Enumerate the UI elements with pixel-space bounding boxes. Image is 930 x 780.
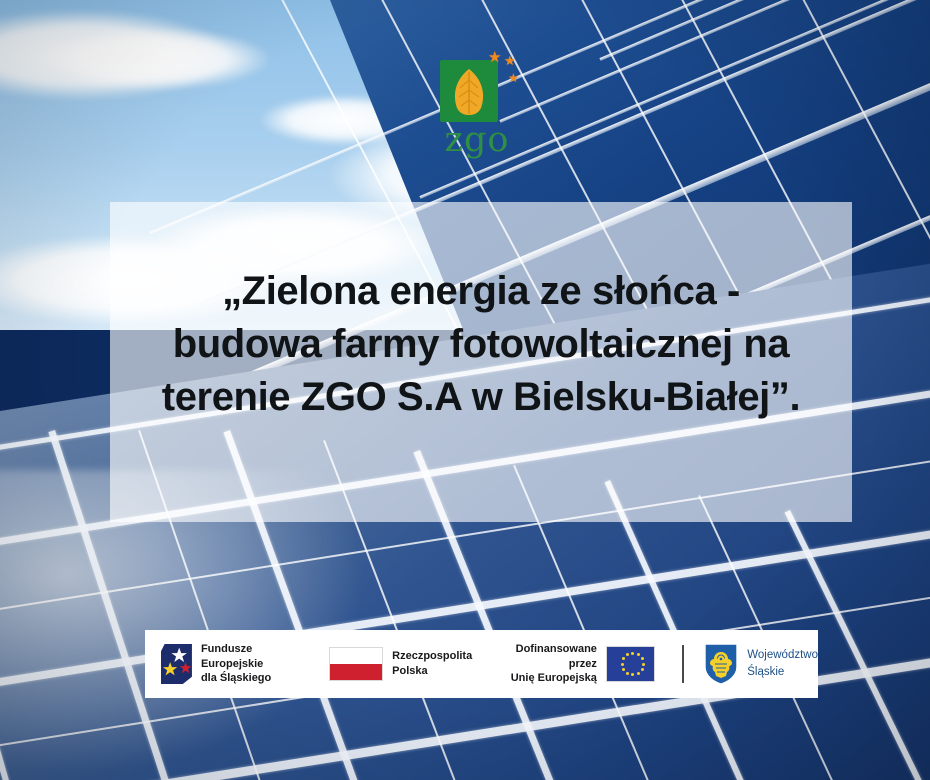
- polish-flag-icon: [329, 647, 383, 681]
- eu-flag-star-icon: [637, 672, 640, 675]
- logo-label-dofinansowane-przez-ue: Dofinansowane przez Unię Europejską: [494, 642, 597, 687]
- logo-item-wojewodztwo-slaskie: Województwo Śląskie: [704, 630, 818, 698]
- logo-bar-divider: [682, 645, 684, 683]
- zgo-star-icon: ★: [508, 72, 519, 84]
- zgo-logo: ★ ★ ★ zgo: [432, 48, 522, 158]
- eu-flag-star-icon: [637, 653, 640, 656]
- eu-flag-star-icon: [631, 673, 634, 676]
- european-union-flag-icon: [606, 646, 655, 682]
- title-line: „Zielona energia ze słońca -: [120, 265, 842, 318]
- poster-root: ★ ★ ★ zgo „Zielona energia ze słońca - b…: [0, 0, 930, 780]
- zgo-star-icon: ★: [488, 50, 501, 65]
- eu-flag-star-icon: [622, 668, 625, 671]
- logo-label-wojewodztwo-slaskie: Województwo Śląskie: [747, 647, 818, 680]
- eu-flag-star-icon: [631, 652, 634, 655]
- flag-stripe-red: [330, 664, 382, 680]
- eu-flag-star-icon: [641, 668, 644, 671]
- logo-item-fundusze-europejskie: Fundusze Europejskie dla Śląskiego: [145, 630, 307, 698]
- eu-funds-stars-icon: [161, 642, 192, 686]
- zgo-wordmark: zgo: [432, 120, 522, 160]
- eu-flag-star-icon: [642, 663, 645, 666]
- eu-flag-star-icon: [621, 663, 624, 666]
- eu-flag-star-icon: [622, 657, 625, 660]
- silesian-voivodeship-crest-icon: [704, 643, 738, 685]
- eu-flag-star-icon: [626, 672, 629, 675]
- logo-item-dofinansowane-przez-ue: Dofinansowane przez Unię Europejską: [494, 630, 664, 698]
- eu-flag-star-icon: [641, 657, 644, 660]
- leaf-icon: [450, 68, 488, 116]
- title-line: budowa farmy fotowoltaicznej na: [120, 318, 842, 371]
- logo-label-rzeczpospolita-polska: Rzeczpospolita Polska: [392, 649, 472, 679]
- flag-stripe-white: [330, 648, 382, 664]
- title-line: terenie ZGO S.A w Bielsku-Białej”.: [120, 371, 842, 424]
- logo-item-rzeczpospolita-polska: Rzeczpospolita Polska: [307, 630, 472, 698]
- funding-logo-bar: Fundusze Europejskie dla Śląskiego Rzecz…: [145, 630, 818, 698]
- zgo-star-icon: ★: [504, 54, 516, 67]
- logo-label-fundusze-europejskie: Fundusze Europejskie dla Śląskiego: [201, 642, 307, 687]
- page-title: „Zielona energia ze słońca - budowa farm…: [120, 265, 842, 425]
- eu-flag-star-icon: [626, 653, 629, 656]
